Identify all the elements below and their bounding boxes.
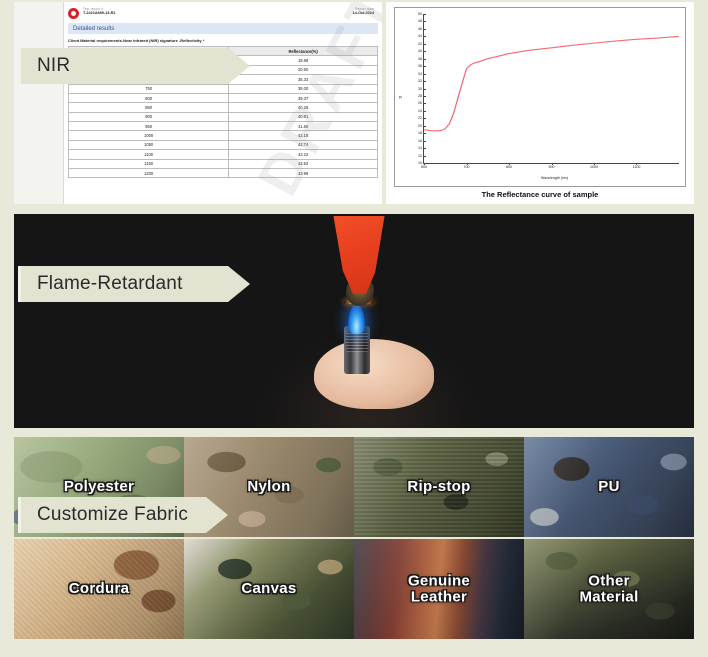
report-date-value: 14-Oct-2024	[352, 11, 374, 16]
cell-reflectance: 43.53	[229, 159, 378, 168]
fabric-tile-cordura[interactable]: Cordura	[14, 539, 184, 639]
chart-y-axis-label: R	[399, 95, 402, 100]
table-row: 120043.99	[69, 168, 378, 177]
chart-y-tick: 22	[418, 116, 424, 120]
cell-reflectance: 40.91	[229, 112, 378, 121]
cell-wavelength: 800	[69, 93, 229, 102]
flame-retardant-ribbon-label: Flame-Retardant	[18, 266, 250, 302]
chart-y-tick: 14	[418, 146, 424, 150]
chart-y-tick: 32	[418, 79, 424, 83]
chart-y-tick: 18	[418, 131, 424, 135]
fabric-tile-pu[interactable]: PU	[524, 437, 694, 537]
table-row: 105042.74	[69, 140, 378, 149]
chart-frame: R 10121416182022242628303234363840424446…	[394, 7, 686, 187]
chart-x-tick: 900	[549, 163, 555, 169]
cell-reflectance: 38.00	[229, 84, 378, 93]
flame-retardant-section	[14, 214, 694, 428]
nir-ribbon-text: NIR	[37, 55, 70, 77]
chart-x-axis-label: Wavelength (nm)	[541, 176, 568, 180]
chart-y-tick: 24	[418, 109, 424, 113]
cell-wavelength: 1050	[69, 140, 229, 149]
chart-x-tick: 700	[464, 163, 470, 169]
cell-wavelength: 1200	[69, 168, 229, 177]
cell-reflectance: 35.33	[229, 75, 378, 84]
chart-y-tick: 28	[418, 94, 424, 98]
chart-y-tick: 16	[418, 139, 424, 143]
nir-test-report-panel: Test report # T-2421A699-13-R1 Report da…	[14, 2, 382, 204]
detailed-results-heading: Detailed results	[68, 23, 378, 34]
table-row: 100042.18	[69, 131, 378, 140]
chart-y-tick: 20	[418, 124, 424, 128]
fabric-tile-rip-stop[interactable]: Rip-stop	[354, 437, 524, 537]
fabric-tile-label: Polyester	[14, 479, 184, 495]
cell-reflectance: 41.60	[229, 122, 378, 131]
chart-y-tick: 30	[418, 87, 424, 91]
cell-reflectance: 18.88	[229, 56, 378, 65]
cell-wavelength: 1000	[69, 131, 229, 140]
chart-y-tick: 38	[418, 57, 424, 61]
requirements-line: Client Material requirements-Near infrar…	[68, 38, 378, 43]
lab-logo-icon	[68, 8, 79, 19]
cell-reflectance: 42.74	[229, 140, 378, 149]
fabric-row-bottom: CorduraCanvasGenuineLeatherOtherMaterial	[14, 539, 694, 639]
report-header: Test report # T-2421A699-13-R1 Report da…	[64, 2, 382, 19]
cell-wavelength: 850	[69, 103, 229, 112]
fabric-tile-label: GenuineLeather	[354, 573, 524, 605]
chart-y-tick: 34	[418, 72, 424, 76]
fabric-tile-label: Rip-stop	[354, 479, 524, 495]
chart-y-tick: 50	[418, 12, 424, 16]
fabric-tile-label: Nylon	[184, 479, 354, 495]
chart-x-tick: 600	[421, 163, 427, 169]
chart-y-tick: 26	[418, 101, 424, 105]
reflectance-curve	[424, 14, 679, 163]
cell-reflectance: 42.18	[229, 131, 378, 140]
cell-wavelength: 1100	[69, 150, 229, 159]
chart-y-tick: 40	[418, 49, 424, 53]
flame-retardant-ribbon-text: Flame-Retardant	[37, 273, 183, 295]
chart-y-tick: 12	[418, 154, 424, 158]
fabric-tile-canvas[interactable]: Canvas	[184, 539, 354, 639]
table-row: 75038.00	[69, 84, 378, 93]
fabric-tile-label: Cordura	[14, 581, 184, 597]
table-row: 110043.22	[69, 150, 378, 159]
chart-y-tick: 46	[418, 27, 424, 31]
cell-wavelength: 950	[69, 122, 229, 131]
fabric-tile-other-material[interactable]: OtherMaterial	[524, 539, 694, 639]
fabric-tile-label: Canvas	[184, 581, 354, 597]
chart-y-tick: 42	[418, 42, 424, 46]
nir-section: Test report # T-2421A699-13-R1 Report da…	[0, 0, 708, 208]
cell-reflectance: 20.60	[229, 65, 378, 74]
report-body: Test report # T-2421A699-13-R1 Report da…	[64, 2, 382, 204]
table-row: 95041.60	[69, 122, 378, 131]
customize-fabric-section: PolyesterNylonRip-stopPU CorduraCanvasGe…	[14, 437, 694, 643]
chart-y-tick: 36	[418, 64, 424, 68]
fabric-tile-label: OtherMaterial	[524, 573, 694, 605]
thumb-shape	[314, 339, 434, 409]
table-row: 85040.28	[69, 103, 378, 112]
chart-caption: The Reflectance curve of sample	[386, 190, 694, 199]
chart-x-tick: 1000	[590, 163, 598, 169]
table-row: 80039.37	[69, 93, 378, 102]
product-detail-page: Test report # T-2421A699-13-R1 Report da…	[0, 0, 708, 657]
cell-wavelength: 750	[69, 84, 229, 93]
cell-reflectance: 40.28	[229, 103, 378, 112]
report-left-margin	[14, 2, 64, 204]
chart-y-tick: 44	[418, 34, 424, 38]
cell-wavelength: 1150	[69, 159, 229, 168]
chart-y-tick: 48	[418, 19, 424, 23]
cell-wavelength: 900	[69, 112, 229, 121]
report-date-block: Report date 14-Oct-2024	[352, 7, 374, 16]
fabric-tile-genuine-leather[interactable]: GenuineLeather	[354, 539, 524, 639]
table-row: 115043.53	[69, 159, 378, 168]
nir-ribbon-label: NIR	[18, 48, 250, 84]
cell-reflectance: 39.37	[229, 93, 378, 102]
chart-plot-area: 1012141618202224262830323436384042444648…	[423, 14, 679, 164]
cell-reflectance: 43.22	[229, 150, 378, 159]
chart-x-tick: 800	[506, 163, 512, 169]
table-column-header-1: Reflectance(%)	[229, 47, 378, 56]
report-number-value: T-2421A699-13-R1	[83, 11, 116, 16]
reflectance-chart-panel: R 10121416182022242628303234363840424446…	[386, 2, 694, 204]
chart-x-tick: 1100	[633, 163, 641, 169]
report-number-block: Test report # T-2421A699-13-R1	[83, 7, 116, 16]
customize-fabric-ribbon-label: Customize Fabric	[18, 497, 228, 533]
fabric-tile-label: PU	[524, 479, 694, 495]
table-row: 90040.91	[69, 112, 378, 121]
cell-reflectance: 43.99	[229, 168, 378, 177]
customize-fabric-ribbon-text: Customize Fabric	[37, 504, 188, 526]
